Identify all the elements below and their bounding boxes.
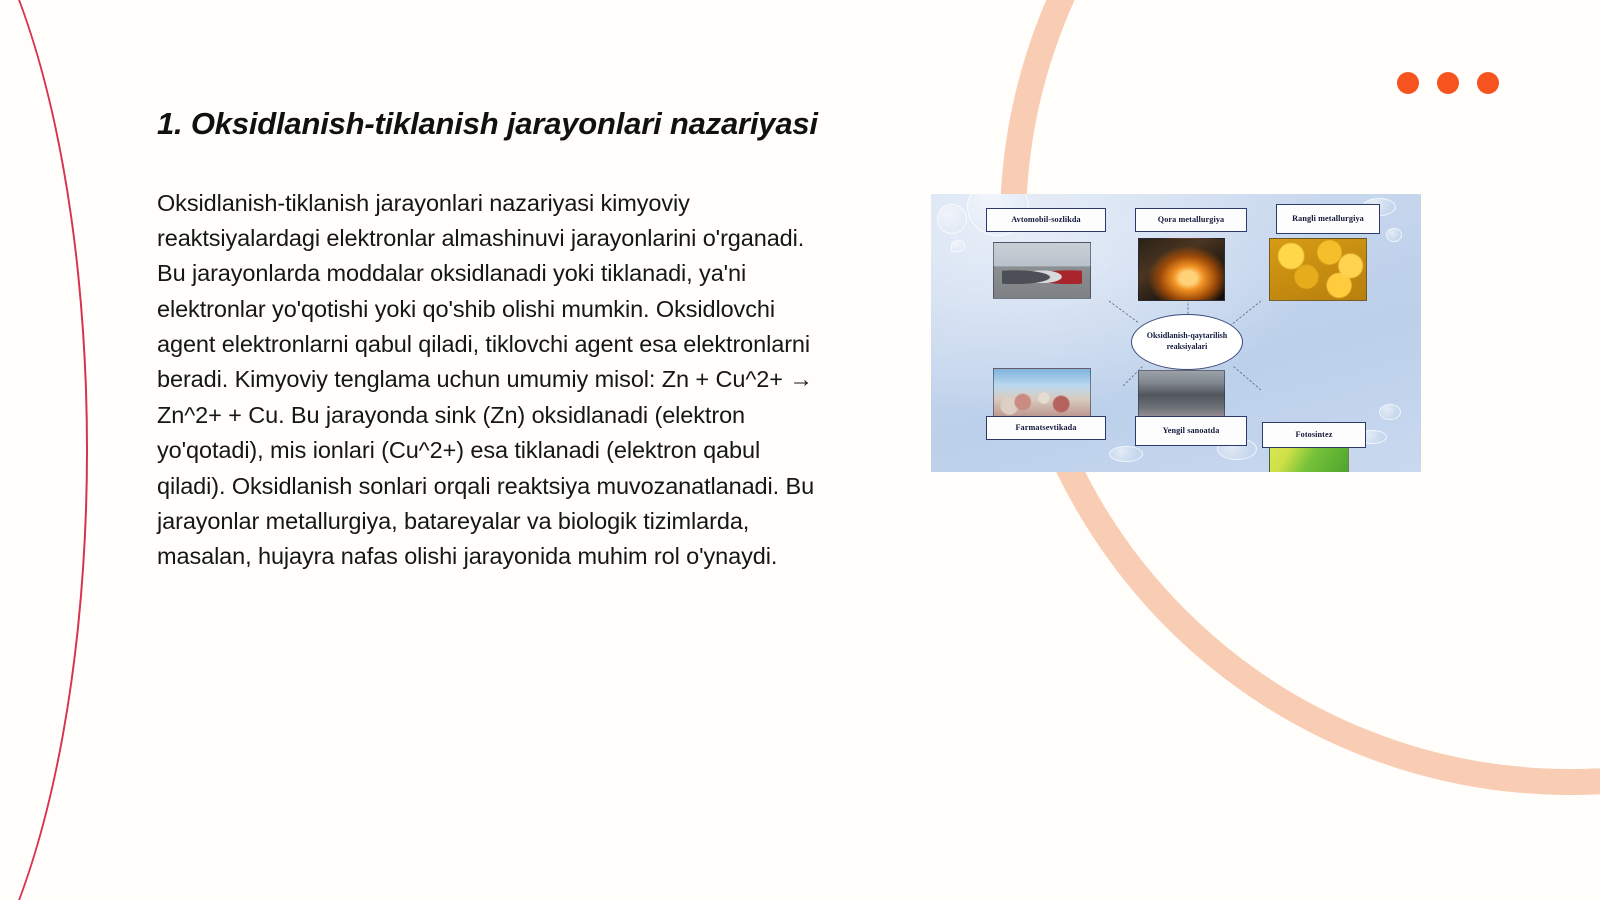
slide-title: 1. Oksidlanish-tiklanish jarayonlari naz…	[157, 104, 837, 144]
oxidation-reduction-mindmap-image: Avtomobil-sozlikda Qora metallurgiya Ran…	[931, 194, 1421, 472]
diagram-node-label: Farmatsevtikada	[986, 416, 1106, 440]
crimson-arc-decoration	[0, 0, 88, 900]
slide-body-paragraph: Oksidlanish-tiklanish jarayonlari nazari…	[157, 186, 829, 575]
diagram-node-label: Yengil sanoatda	[1135, 416, 1247, 446]
slide-canvas: 1. Oksidlanish-tiklanish jarayonlari naz…	[0, 0, 1600, 900]
dot-icon	[1477, 72, 1499, 94]
three-dots-decoration	[1397, 72, 1499, 94]
diagram-node-label: Rangli metallurgiya	[1276, 204, 1380, 234]
pharmacy-photo	[993, 368, 1091, 420]
diagram-center-node: Oksidlanish-qaytarilish reaksiyalari	[1131, 314, 1243, 370]
text-column: 1. Oksidlanish-tiklanish jarayonlari naz…	[157, 104, 837, 575]
diagram-node-label: Fotosintez	[1262, 422, 1366, 448]
dot-icon	[1397, 72, 1419, 94]
dot-icon	[1437, 72, 1459, 94]
furnace-photo	[1138, 238, 1225, 301]
cars-photo	[993, 242, 1091, 299]
diagram-node-label: Avtomobil-sozlikda	[986, 208, 1106, 232]
diagram-node-label: Qora metallurgiya	[1135, 208, 1247, 232]
gold-ore-photo	[1269, 238, 1367, 301]
